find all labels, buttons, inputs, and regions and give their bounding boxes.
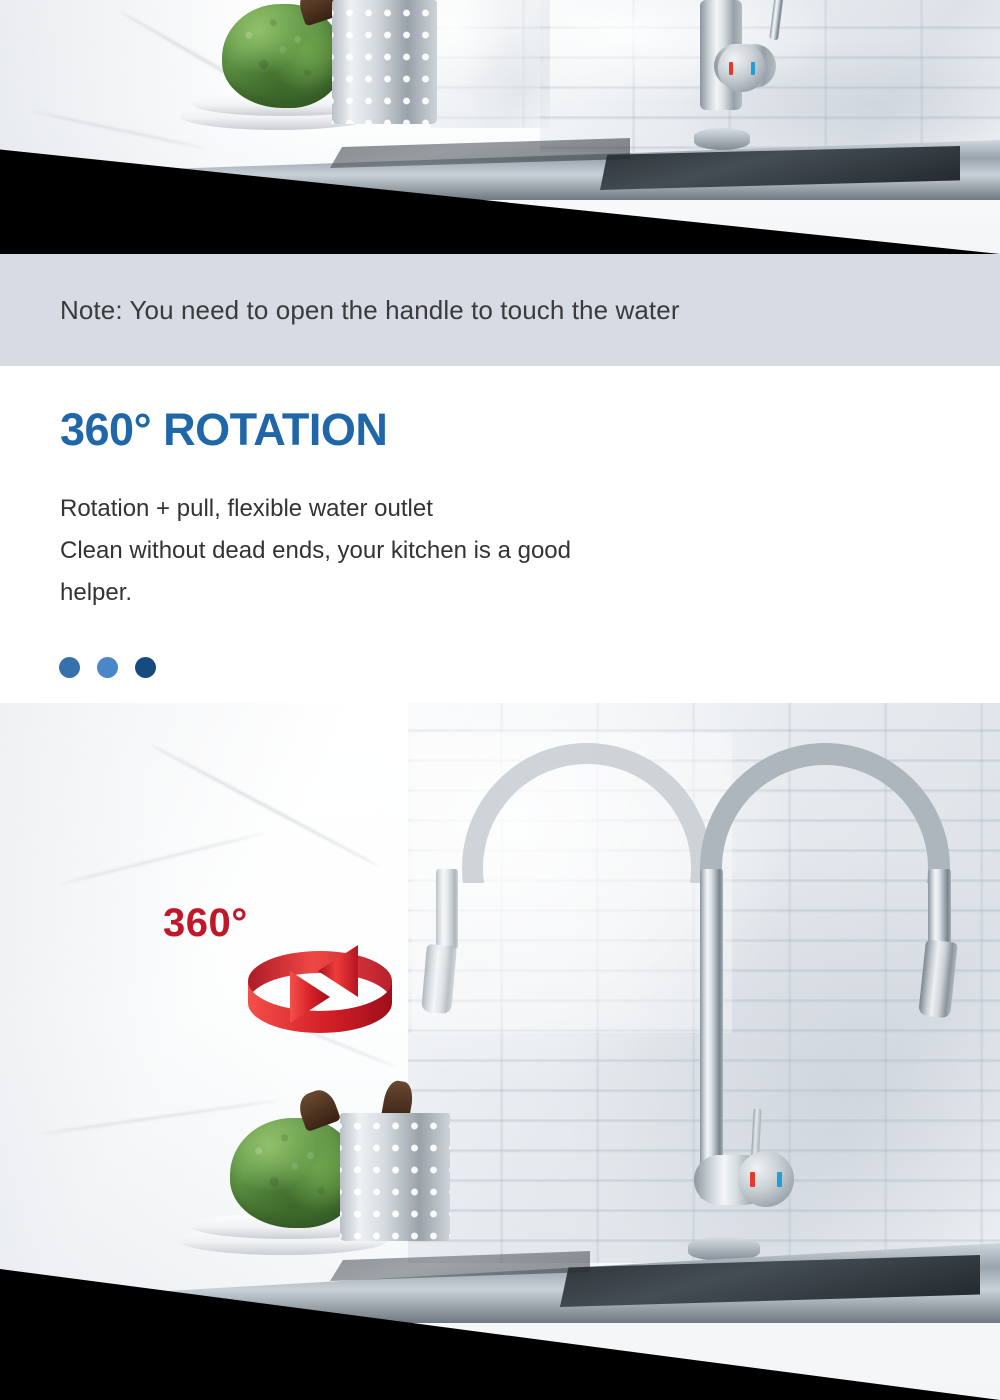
ghost-faucet-overlay [412, 733, 732, 1033]
dot-1[interactable] [59, 657, 80, 678]
cold-indicator-icon-bottom [777, 1172, 782, 1187]
photo-top [0, 0, 1000, 254]
hot-indicator-icon-bottom [750, 1172, 755, 1187]
caddy-perforations [332, 0, 437, 124]
feature-text-block: 360° ROTATION Rotation + pull, flexible … [0, 366, 1000, 703]
rotation-arrow-icon [230, 929, 410, 1039]
feature-description: Rotation + pull, flexible water outlet C… [60, 488, 710, 614]
feature-description-line-2: Clean without dead ends, your kitchen is… [60, 530, 710, 572]
pagination-dots[interactable] [59, 657, 156, 678]
dot-3[interactable] [135, 657, 156, 678]
feature-description-line-3: helper. [60, 572, 710, 614]
hot-indicator-icon-top [729, 62, 733, 75]
feature-description-line-1: Rotation + pull, flexible water outlet [60, 488, 710, 530]
brick-wall-top-blend [430, 0, 550, 128]
faucet-base-bottom [688, 1237, 760, 1261]
caddy-perforations [340, 1113, 450, 1241]
faucet-knob-bottom[interactable] [738, 1151, 794, 1207]
dot-2[interactable] [97, 657, 118, 678]
main-faucet-downtube [928, 869, 951, 945]
product-feature-page: Note: You need to open the handle to tou… [0, 0, 1000, 1400]
utensil-caddy-top [332, 0, 437, 124]
cold-indicator-icon-top [751, 62, 755, 75]
page-title: 360° ROTATION [60, 404, 387, 456]
main-faucet-column [700, 869, 723, 1199]
utensil-caddy-bottom [340, 1113, 450, 1241]
faucet-base-top [694, 128, 750, 150]
note-band: Note: You need to open the handle to tou… [0, 254, 1000, 366]
faucet-knob-top [718, 44, 766, 92]
photo-bottom: 360° [0, 703, 1000, 1400]
note-text: Note: You need to open the handle to tou… [60, 295, 680, 326]
